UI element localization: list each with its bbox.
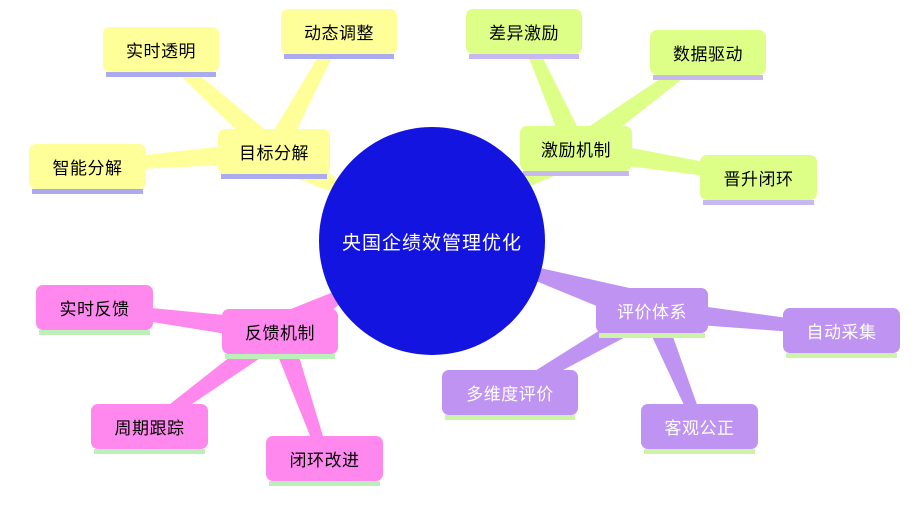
branch-node-goal-decomposition[interactable]: 目标分解 bbox=[218, 129, 330, 174]
leaf-node-jinsheng-bihuan[interactable]: 晋升闭环 bbox=[700, 155, 817, 200]
leaf-label: 晋升闭环 bbox=[724, 165, 794, 190]
leaf-label: 智能分解 bbox=[53, 154, 123, 179]
leaf-node-zhineng-fenjie[interactable]: 智能分解 bbox=[29, 144, 146, 189]
central-topic-label: 央国企绩效管理优化 bbox=[342, 228, 522, 255]
node-shadow-bar bbox=[599, 333, 705, 338]
leaf-label: 差异激励 bbox=[489, 19, 559, 44]
leaf-node-dongtai-tiaozheng[interactable]: 动态调整 bbox=[281, 9, 397, 54]
branch-node-incentive-mechanism[interactable]: 激励机制 bbox=[520, 126, 632, 171]
node-shadow-bar bbox=[32, 189, 143, 194]
leaf-node-shishi-touming[interactable]: 实时透明 bbox=[103, 27, 219, 72]
central-topic-node[interactable]: 央国企绩效管理优化 bbox=[319, 127, 545, 355]
node-shadow-bar bbox=[106, 72, 216, 77]
branch-label: 激励机制 bbox=[541, 136, 611, 161]
leaf-label: 自动采集 bbox=[807, 318, 877, 343]
leaf-label: 数据驱动 bbox=[673, 40, 743, 65]
branch-node-feedback-mechanism[interactable]: 反馈机制 bbox=[222, 309, 338, 354]
node-shadow-bar bbox=[221, 174, 327, 179]
node-shadow-bar bbox=[469, 54, 579, 59]
leaf-node-shuju-qudong[interactable]: 数据驱动 bbox=[650, 30, 766, 75]
leaf-node-zhouqi-genzong[interactable]: 周期跟踪 bbox=[91, 404, 208, 449]
node-shadow-bar bbox=[653, 75, 763, 80]
leaf-label: 周期跟踪 bbox=[115, 414, 185, 439]
branch-label: 反馈机制 bbox=[245, 319, 315, 344]
node-shadow-bar bbox=[225, 354, 335, 359]
leaf-label: 客观公正 bbox=[665, 414, 735, 439]
mindmap-canvas: 目标分解 实时透明 动态调整 智能分解 激励机制 差异激励 数据驱动 晋升闭环 … bbox=[0, 0, 921, 511]
node-shadow-bar bbox=[703, 200, 814, 205]
node-shadow-bar bbox=[786, 353, 897, 358]
leaf-label: 实时透明 bbox=[126, 37, 196, 62]
node-shadow-bar bbox=[94, 449, 205, 454]
leaf-node-keguan-gongzheng[interactable]: 客观公正 bbox=[641, 404, 758, 449]
leaf-node-chayi-jili[interactable]: 差异激励 bbox=[466, 9, 582, 54]
node-shadow-bar bbox=[523, 171, 629, 176]
leaf-node-zidong-caiji[interactable]: 自动采集 bbox=[783, 308, 900, 353]
node-shadow-bar bbox=[39, 330, 150, 335]
node-shadow-bar bbox=[644, 449, 755, 454]
leaf-label: 实时反馈 bbox=[60, 295, 130, 320]
node-shadow-bar bbox=[269, 481, 380, 486]
branch-label: 评价体系 bbox=[617, 298, 687, 323]
node-shadow-bar bbox=[445, 415, 575, 420]
leaf-label: 多维度评价 bbox=[466, 380, 554, 405]
branch-label: 目标分解 bbox=[239, 139, 309, 164]
leaf-node-shishi-fankui[interactable]: 实时反馈 bbox=[36, 285, 153, 330]
node-shadow-bar bbox=[284, 54, 394, 59]
leaf-node-duoweidu-pingjia[interactable]: 多维度评价 bbox=[442, 370, 578, 415]
leaf-node-bihuan-gaijin[interactable]: 闭环改进 bbox=[266, 436, 383, 481]
leaf-label: 动态调整 bbox=[304, 19, 374, 44]
branch-node-evaluation-system[interactable]: 评价体系 bbox=[596, 288, 708, 333]
leaf-label: 闭环改进 bbox=[290, 446, 360, 471]
